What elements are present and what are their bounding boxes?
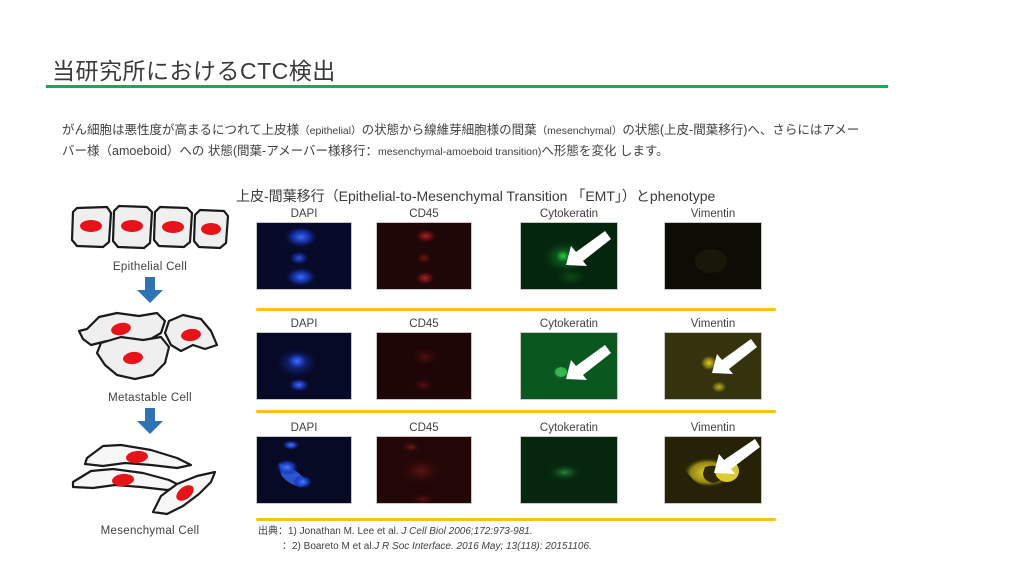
intro-text-4: （mesenchymal） xyxy=(537,125,623,137)
reference-1-journal: J Cell Biol 2006;172:973-981. xyxy=(401,526,532,537)
panel-image-cytokeratin-row1[interactable] xyxy=(520,222,618,290)
panel-label-dapi-row3: DAPI xyxy=(256,420,352,436)
arrow-down-icon-2 xyxy=(134,406,166,436)
emt-heading: 上皮-間葉移行（Epithelial-to-Mesenchymal Transi… xyxy=(236,186,715,206)
panel-vimentin-row1[interactable]: Vimentin xyxy=(664,206,762,290)
panel-image-cytokeratin-row2[interactable] xyxy=(520,332,618,400)
intro-text-6: バー様（amoeboid）への 状態(間葉-アメーバー様移行： xyxy=(62,144,378,158)
row-separator-2 xyxy=(256,308,776,311)
panel-image-cytokeratin-row3[interactable] xyxy=(520,436,618,504)
panel-cd45-row3[interactable]: CD45 xyxy=(376,420,472,504)
panel-label-cytokeratin-row1: Cytokeratin xyxy=(520,206,618,222)
panel-label-cytokeratin-row2: Cytokeratin xyxy=(520,316,618,332)
panel-dapi-row3[interactable]: DAPI xyxy=(256,420,352,504)
panel-cd45-row1[interactable]: CD45 xyxy=(376,206,472,290)
grid-row-epithelial: DAPI CD45 xyxy=(256,206,776,308)
diagram-caption-metastable: Metastable Cell xyxy=(60,392,240,404)
panel-dapi-row1[interactable]: DAPI xyxy=(256,206,352,290)
intro-text-3: の状態から線維芽細胞様の間葉 xyxy=(362,123,537,137)
footer-separator xyxy=(256,518,776,521)
reference-1-prefix: 出典：1) Jonathan M. Lee et al. xyxy=(258,526,399,537)
pointer-arrow-icon-vimentin-row2 xyxy=(665,333,761,399)
panel-label-cd45-row3: CD45 xyxy=(376,420,472,436)
panel-cytokeratin-row1[interactable]: Cytokeratin xyxy=(520,206,618,290)
panel-label-vimentin-row1: Vimentin xyxy=(664,206,762,222)
panel-label-cd45-row2: CD45 xyxy=(376,316,472,332)
panel-image-cd45-row2[interactable] xyxy=(376,332,472,400)
diagram-block-mesenchymal: Mesenchymal Cell xyxy=(60,438,240,537)
reference-line-2: ：2) Boareto M et al.J R Soc Interface. 2… xyxy=(258,539,592,554)
panel-label-vimentin-row2: Vimentin xyxy=(664,316,762,332)
row-separator-3 xyxy=(256,410,776,413)
grid-row-mesenchymal: DAPI CD45 xyxy=(256,410,776,514)
panel-cytokeratin-row3[interactable]: Cytokeratin xyxy=(520,420,618,504)
pointer-arrow-icon-cytokeratin-row1 xyxy=(521,223,617,289)
grid-row-metastable: DAPI CD45 xyxy=(256,308,776,410)
title-underline xyxy=(46,85,888,88)
panel-image-vimentin-row2[interactable] xyxy=(664,332,762,400)
references-block: 出典：1) Jonathan M. Lee et al. J Cell Biol… xyxy=(258,524,592,554)
intro-text-7: mesenchymal-amoeboid transition) xyxy=(378,146,541,158)
panel-image-cd45-row1[interactable] xyxy=(376,222,472,290)
mesenchymal-cells-icon xyxy=(65,438,235,518)
pointer-arrow-icon-vimentin-row3 xyxy=(665,437,761,503)
intro-text-1: がん細胞は悪性度が高まるにつれて上皮様 xyxy=(62,123,299,137)
intro-text-5: の状態(上皮-間葉移行)へ、さらにはアメー xyxy=(622,123,859,137)
panel-label-vimentin-row3: Vimentin xyxy=(664,420,762,436)
panel-label-dapi-row2: DAPI xyxy=(256,316,352,332)
intro-paragraph: がん細胞は悪性度が高まるにつれて上皮様（epithelial）の状態から線維芽細… xyxy=(62,120,942,162)
page-title: 当研究所におけるCTC検出 xyxy=(52,52,336,86)
panel-label-cytokeratin-row3: Cytokeratin xyxy=(520,420,618,436)
reference-2-journal: J R Soc Interface. 2016 May; 13(118): 20… xyxy=(374,541,592,552)
panel-label-cd45-row1: CD45 xyxy=(376,206,472,222)
diagram-block-metastable: Metastable Cell xyxy=(60,307,240,404)
microscopy-grid: DAPI CD45 xyxy=(256,206,776,514)
reference-line-1: 出典：1) Jonathan M. Lee et al. J Cell Biol… xyxy=(258,524,592,539)
panel-vimentin-row3[interactable]: Vimentin xyxy=(664,420,762,504)
cell-morphology-diagram: Epithelial Cell Metastable Cell xyxy=(60,202,240,537)
panel-image-vimentin-row1[interactable] xyxy=(664,222,762,290)
metastable-cells-icon xyxy=(65,307,235,385)
diagram-block-epithelial: Epithelial Cell xyxy=(60,202,240,273)
panel-dapi-row2[interactable]: DAPI xyxy=(256,316,352,400)
intro-text-2: （epithelial） xyxy=(299,125,361,137)
diagram-caption-mesenchymal: Mesenchymal Cell xyxy=(60,525,240,537)
panel-image-dapi-row2[interactable] xyxy=(256,332,352,400)
arrow-down-icon-1 xyxy=(134,275,166,305)
panel-cytokeratin-row2[interactable]: Cytokeratin xyxy=(520,316,618,400)
reference-2-prefix: ：2) Boareto M et al. xyxy=(282,541,374,552)
pointer-arrow-icon-cytokeratin-row2 xyxy=(521,333,617,399)
panel-cd45-row2[interactable]: CD45 xyxy=(376,316,472,400)
diagram-caption-epithelial: Epithelial Cell xyxy=(60,261,240,273)
panel-image-vimentin-row3[interactable] xyxy=(664,436,762,504)
panel-image-dapi-row3[interactable] xyxy=(256,436,352,504)
panel-image-cd45-row3[interactable] xyxy=(376,436,472,504)
panel-vimentin-row2[interactable]: Vimentin xyxy=(664,316,762,400)
intro-text-8: へ形態を変化 します。 xyxy=(541,144,668,158)
panel-image-dapi-row1[interactable] xyxy=(256,222,352,290)
panel-label-dapi-row1: DAPI xyxy=(256,206,352,222)
slide-root: 当研究所におけるCTC検出 がん細胞は悪性度が高まるにつれて上皮様（epithe… xyxy=(0,0,1024,576)
epithelial-cells-icon xyxy=(65,202,235,254)
